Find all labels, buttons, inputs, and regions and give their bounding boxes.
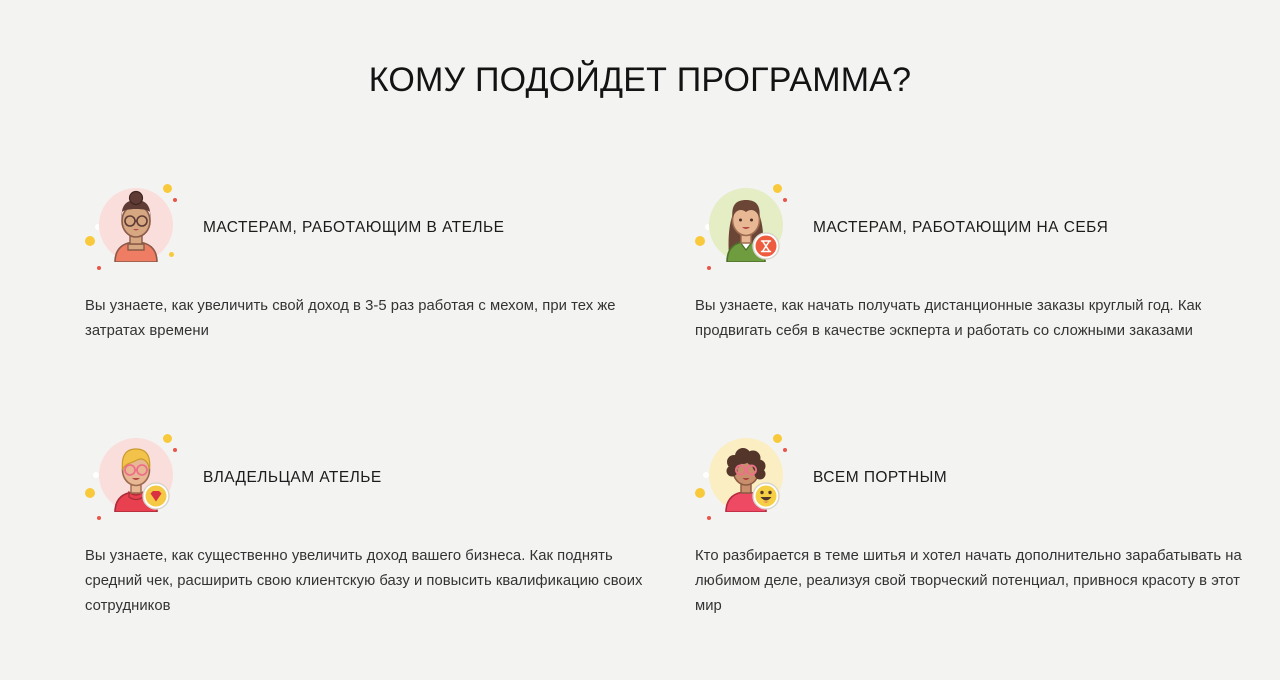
card-description: Вы узнаете, как начать получать дистанци… [695, 294, 1255, 344]
card-title: ВЛАДЕЛЬЦАМ АТЕЛЬЕ [203, 467, 382, 489]
decor-dot-red [173, 198, 177, 202]
avatar-blond-pink-glasses-icon [99, 438, 173, 512]
card-header: ВСЕМ ПОРТНЫМ [695, 430, 1280, 526]
avatar-woman-long-hair-green-icon [709, 188, 783, 262]
avatar [695, 180, 791, 276]
decor-dot-red [97, 516, 101, 520]
decor-dot-red [707, 266, 711, 270]
decor-dot-yellow [695, 236, 705, 246]
decor-dot-yellow [695, 488, 705, 498]
avatar [85, 180, 181, 276]
audience-card: ВСЕМ ПОРТНЫМ Кто разбирается в теме шить… [695, 430, 1280, 680]
page-title: КОМУ ПОДОЙДЕТ ПРОГРАММА? [0, 58, 1280, 102]
audience-card-grid: МАСТЕРАМ, РАБОТАЮЩИМ В АТЕЛЬЕ Вы узнаете… [0, 180, 1280, 680]
audience-card: МАСТЕРАМ, РАБОТАЮЩИМ НА СЕБЯ Вы узнаете,… [695, 180, 1280, 430]
decor-dot-yellow [85, 236, 95, 246]
card-description: Кто разбирается в теме шитья и хотел нач… [695, 544, 1255, 619]
decor-dot-red [783, 448, 787, 452]
program-audience-section: КОМУ ПОДОЙДЕТ ПРОГРАММА? [0, 0, 1280, 665]
card-title: ВСЕМ ПОРТНЫМ [813, 467, 947, 489]
card-title: МАСТЕРАМ, РАБОТАЮЩИМ В АТЕЛЬЕ [203, 217, 504, 239]
avatar [695, 430, 791, 526]
decor-dot-red [97, 266, 101, 270]
card-header: МАСТЕРАМ, РАБОТАЮЩИМ В АТЕЛЬЕ [85, 180, 670, 276]
card-title: МАСТЕРАМ, РАБОТАЮЩИМ НА СЕБЯ [813, 217, 1108, 239]
avatar-curly-pink-glasses-icon [709, 438, 783, 512]
avatar [85, 430, 181, 526]
card-header: ВЛАДЕЛЬЦАМ АТЕЛЬЕ [85, 430, 670, 526]
decor-dot-red [173, 448, 177, 452]
avatar-woman-glasses-bun-icon [99, 188, 173, 262]
card-description: Вы узнаете, как увеличить свой доход в 3… [85, 294, 645, 344]
card-description: Вы узнаете, как существенно увеличить до… [85, 544, 645, 619]
decor-dot-yellow [85, 488, 95, 498]
audience-card: ВЛАДЕЛЬЦАМ АТЕЛЬЕ Вы узнаете, как сущест… [85, 430, 670, 680]
decor-dot-red [783, 198, 787, 202]
card-header: МАСТЕРАМ, РАБОТАЮЩИМ НА СЕБЯ [695, 180, 1280, 276]
audience-card: МАСТЕРАМ, РАБОТАЮЩИМ В АТЕЛЬЕ Вы узнаете… [85, 180, 670, 430]
decor-dot-red [707, 516, 711, 520]
